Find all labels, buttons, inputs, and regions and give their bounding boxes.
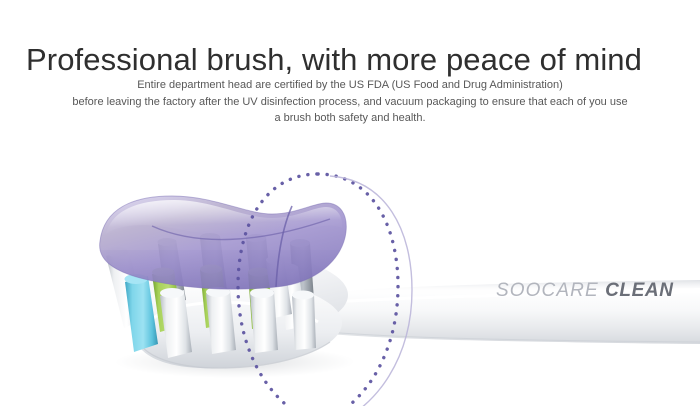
product-shadow xyxy=(115,346,355,378)
dotted-ellipse-outline xyxy=(238,174,398,406)
bristle-tuft-white xyxy=(106,247,146,328)
uv-sanitizer-cap xyxy=(96,196,356,298)
bristle-tuft-white xyxy=(160,288,192,358)
bristle-tuft-green xyxy=(152,268,182,333)
bristle-tuft-white xyxy=(206,287,236,354)
bristle-tuft-white xyxy=(266,256,292,318)
solid-ellipse-outline xyxy=(330,176,412,406)
bristle-tuft-white xyxy=(250,288,278,353)
description-line-2: before leaving the factory after the UV … xyxy=(30,94,670,111)
bristle-tuft-green xyxy=(248,268,274,330)
bristle-tuft-white xyxy=(278,264,306,331)
description-paragraph: Entire department head are certified by … xyxy=(30,77,670,127)
bristle-tuft-gray xyxy=(246,234,272,301)
bristle-row-green xyxy=(152,265,274,333)
brush-head-pad xyxy=(132,251,348,368)
bristle-tuft-green xyxy=(200,265,228,329)
bristle-tuft-teal xyxy=(125,274,159,352)
bristle-row-back xyxy=(158,233,315,306)
brand-model: CLEAN xyxy=(605,280,673,301)
brand-name: SOOCARE xyxy=(496,280,599,301)
description-line-1: Entire department head are certified by … xyxy=(30,77,670,94)
page-title: Professional brush, with more peace of m… xyxy=(26,41,686,79)
bristle-tuft-white xyxy=(292,291,316,351)
promo-banner: Professional brush, with more peace of m… xyxy=(0,0,700,406)
brand-lockup: SOOCARE CLEAN xyxy=(496,280,674,302)
bristle-row-white-outer xyxy=(106,247,306,330)
bristle-tuft-gray xyxy=(200,233,228,302)
bristle-row-white-front xyxy=(160,287,316,358)
bristle-tuft-gray xyxy=(158,238,187,306)
bristle-tuft-gray xyxy=(290,239,314,302)
description-line-3: a brush both safety and health. xyxy=(30,110,670,127)
